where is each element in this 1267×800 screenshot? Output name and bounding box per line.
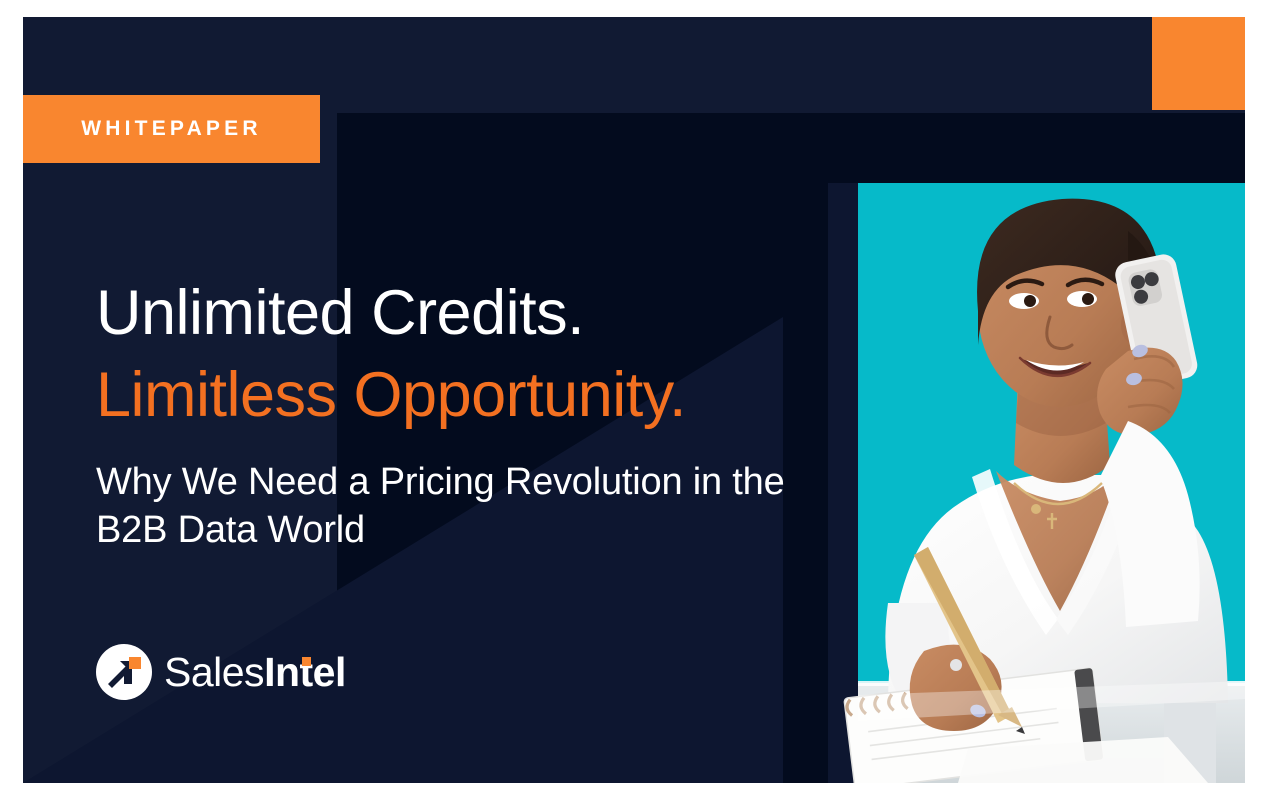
logo-accent-square-icon <box>302 657 311 666</box>
whitepaper-badge-label: WHITEPAPER <box>81 117 261 141</box>
whitepaper-cover: WHITEPAPER Unlimited Credits. Limitless … <box>23 17 1245 783</box>
arrow-up-right-in-circle-icon <box>96 644 152 700</box>
hero-photo-illustration <box>828 183 1245 783</box>
headline-line-1: Unlimited Credits. <box>96 272 856 354</box>
subheadline: Why We Need a Pricing Revolution in the … <box>96 458 796 554</box>
wordmark-sales: Sales <box>164 649 264 695</box>
whitepaper-badge: WHITEPAPER <box>23 95 320 163</box>
headline-line-2: Limitless Opportunity. <box>96 354 856 436</box>
salesintel-logo: SalesIntel <box>96 644 346 700</box>
hero-photo <box>828 183 1245 783</box>
wordmark-intel: Intel <box>264 649 346 695</box>
title-block: Unlimited Credits. Limitless Opportunity… <box>96 272 856 554</box>
salesintel-wordmark: SalesIntel <box>164 652 346 693</box>
accent-block-orange <box>1152 17 1245 110</box>
